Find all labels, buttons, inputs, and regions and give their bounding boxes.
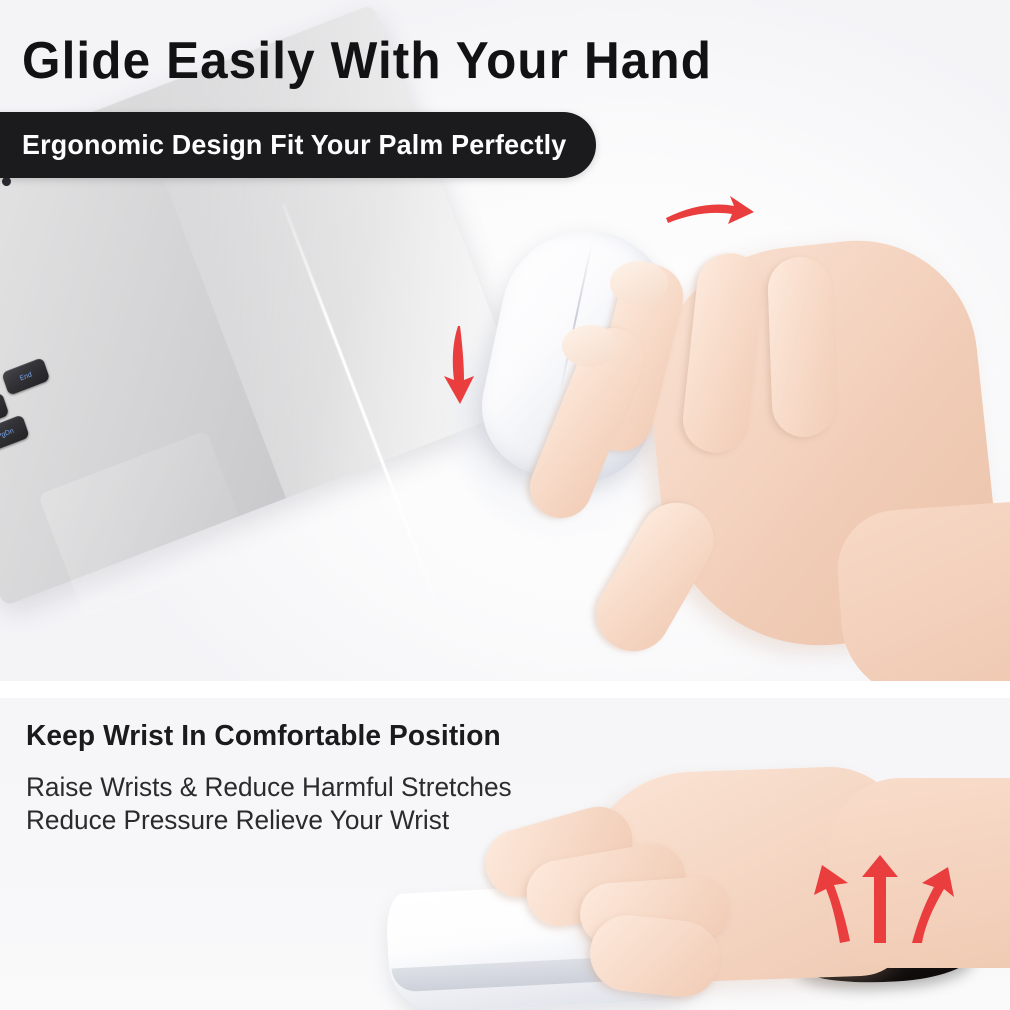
key-end[interactable]: End	[1, 357, 50, 395]
pressure-relief-arrows	[800, 855, 960, 945]
wrist-top	[834, 496, 1010, 681]
little-finger-top	[767, 256, 837, 438]
subtitle-banner: Ergonomic Design Fit Your Palm Perfectly	[0, 112, 596, 178]
middle-fingertip-top	[562, 325, 618, 367]
hand-top	[540, 205, 1010, 675]
arrow-up-right-icon	[912, 867, 954, 943]
laptop: Backspace \ Enter , Shift ? PgUp End PgD…	[0, 165, 490, 681]
section-divider	[0, 681, 1010, 698]
bottom-heading: Keep Wrist In Comfortable Position	[26, 720, 501, 753]
product-feature-image: Backspace \ Enter , Shift ? PgUp End PgD…	[0, 0, 1010, 1010]
arrow-up-center-icon	[862, 855, 898, 943]
top-panel: Backspace \ Enter , Shift ? PgUp End PgD…	[0, 0, 1010, 681]
page-title: Glide Easily With Your Hand	[22, 26, 820, 96]
index-fingertip-top	[610, 261, 668, 305]
arrow-right-icon	[664, 192, 756, 236]
arrow-down-icon	[436, 324, 484, 406]
arrow-up-left-icon	[814, 865, 850, 943]
subtitle-banner-text: Ergonomic Design Fit Your Palm Perfectly	[22, 112, 566, 178]
key-pgdn[interactable]: PgDn	[0, 414, 30, 452]
